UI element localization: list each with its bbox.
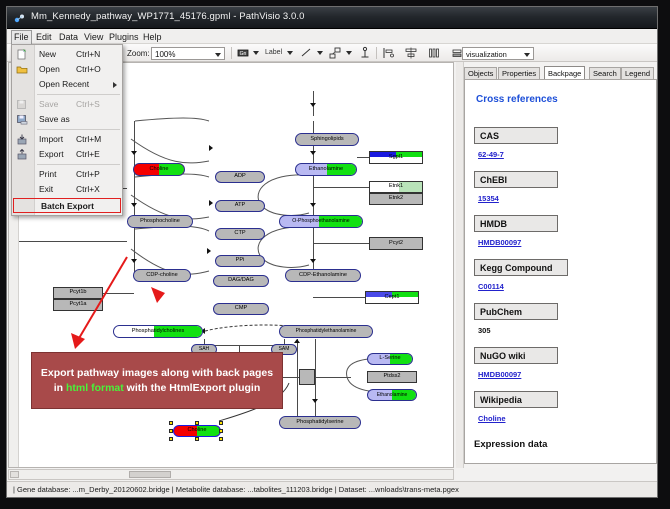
status-bar-text: | Gene database: ...m_Derby_20120602.bri… <box>13 485 459 494</box>
menu-item-accel: Ctrl+O <box>76 64 101 74</box>
arrow-icon <box>209 200 213 206</box>
chevron-down-icon[interactable] <box>524 53 530 57</box>
menu-bar: File Edit Data View Plugins Help <box>7 29 657 44</box>
screenshot-frame: Mm_Kennedy_pathway_WP1771_45176.gpml - P… <box>0 0 670 509</box>
node-etnk2[interactable]: Etnk2 <box>369 193 423 205</box>
menu-item-export[interactable]: Export Ctrl+E <box>12 147 122 162</box>
menu-item-label: Export <box>39 149 64 159</box>
selection-handle[interactable] <box>195 437 199 441</box>
menu-item-exit[interactable]: Exit Ctrl+X <box>12 182 122 197</box>
arrow-icon <box>312 399 318 403</box>
visualization-value: visualization <box>466 50 507 59</box>
menu-item-label: Import <box>39 134 63 144</box>
node-sphingolipids[interactable]: Sphingolipids <box>295 133 359 146</box>
selection-handle[interactable] <box>195 421 199 425</box>
node-adp[interactable]: ADP <box>215 171 265 183</box>
menu-item-new[interactable]: New Ctrl+N <box>12 47 122 62</box>
selection-handle[interactable] <box>219 437 223 441</box>
menu-item-label: Exit <box>39 184 53 194</box>
xref-value-cas[interactable]: 62-49-7 <box>478 150 504 159</box>
node-choline-selected[interactable]: Choline <box>173 425 221 437</box>
save-icon <box>16 99 28 110</box>
menu-item-save-as[interactable]: Save as <box>12 112 122 127</box>
selection-handle[interactable] <box>169 429 173 433</box>
chevron-right-icon <box>113 82 117 88</box>
callout-highlight: html format <box>66 382 124 394</box>
label-button[interactable]: Label <box>265 49 282 56</box>
chevron-down-icon[interactable] <box>215 53 221 57</box>
edge-pcyt2 <box>313 243 369 244</box>
node-cept1[interactable]: Cept1 <box>365 291 419 304</box>
arrow-icon <box>294 339 300 343</box>
zoom-label: Zoom: <box>127 49 150 58</box>
backpage-content: Cross references CAS 62-49-7 ChEBI 15354… <box>464 79 657 464</box>
node-l-serine[interactable]: L-Serine <box>367 353 413 365</box>
xref-value-pubchem: 305 <box>478 326 491 335</box>
edge-etnk <box>313 187 369 188</box>
edge-cept1 <box>313 297 365 298</box>
line-icon[interactable] <box>299 46 313 60</box>
xref-value-wikipedia[interactable]: Choline <box>478 414 506 423</box>
callout-arrow-icon <box>49 253 169 363</box>
xref-label-hmdb: HMDB <box>474 215 558 232</box>
menu-item-accel: Ctrl+N <box>76 49 100 59</box>
node-ptdss2[interactable]: Ptdss2 <box>367 371 417 383</box>
edge-ps-pe <box>297 339 298 419</box>
line-dropdown-icon[interactable] <box>317 51 323 55</box>
status-bar: | Gene database: ...m_Derby_20120602.bri… <box>7 481 657 497</box>
menu-item-label: Print <box>39 169 56 179</box>
svg-text:Gn: Gn <box>240 51 247 57</box>
xref-label-cas: CAS <box>474 127 558 144</box>
node-ethanolamine[interactable]: Ethanolamine <box>295 163 357 176</box>
align-center-icon[interactable] <box>404 46 418 60</box>
xref-label-kegg: Kegg Compound <box>474 259 568 276</box>
node-atp[interactable]: ATP <box>215 200 265 212</box>
edge-sgpl1 <box>357 157 369 158</box>
node-ctp[interactable]: CTP <box>215 228 265 240</box>
callout-arrow-tip-icon <box>147 285 171 307</box>
file-dropdown-menu[interactable]: New Ctrl+N Open Ctrl+O Open Recent Save … <box>11 44 123 216</box>
import-icon <box>16 134 28 145</box>
xref-value-hmdb[interactable]: HMDB00097 <box>478 238 521 247</box>
canvas-horizontal-scrollbar[interactable] <box>8 469 454 480</box>
menu-item-label: Save <box>39 99 58 109</box>
export-icon <box>16 149 28 160</box>
menu-help[interactable]: Help <box>140 31 165 43</box>
title-bar: Mm_Kennedy_pathway_WP1771_45176.gpml - P… <box>7 7 657 29</box>
node-phosphocholine[interactable]: Phosphocholine <box>127 215 193 228</box>
node-phosphatidylethanolamine[interactable]: Phosphatidylethanolamine <box>279 325 373 338</box>
node-pcyt2[interactable]: Pcyt2 <box>369 237 423 250</box>
node-o-phosphoethanolamine[interactable]: O-Phosphoethanolamine <box>279 215 363 228</box>
menu-item-label: Batch Export <box>41 201 94 211</box>
zoom-value: 100% <box>155 50 175 59</box>
menu-edit[interactable]: Edit <box>33 31 55 43</box>
menu-item-accel: Ctrl+M <box>76 134 101 144</box>
label-dropdown-icon[interactable] <box>287 51 293 55</box>
xref-value-nugo[interactable]: HMDB00097 <box>478 370 521 379</box>
node-phosphatidylserine[interactable]: Phosphatidylserine <box>279 416 361 429</box>
node-cdp-ethanolamine[interactable]: CDP-Ethanolamine <box>285 269 361 282</box>
window-title: Mm_Kennedy_pathway_WP1771_45176.gpml - P… <box>31 11 305 22</box>
menu-item-print[interactable]: Print Ctrl+P <box>12 167 122 182</box>
menu-item-batch-export[interactable]: Batch Export <box>13 198 121 213</box>
xref-label-nugo: NuGO wiki <box>474 347 558 364</box>
menu-item-accel: Ctrl+X <box>76 184 100 194</box>
pathvisio-icon <box>14 13 25 24</box>
menu-file[interactable]: File <box>11 30 32 45</box>
scrollbar-thumb[interactable] <box>129 471 171 478</box>
gene-dropdown-icon[interactable] <box>253 51 259 55</box>
menu-item-label: Open <box>39 64 60 74</box>
panel-splitter[interactable] <box>456 62 464 468</box>
menu-item-open-recent[interactable]: Open Recent <box>12 77 122 92</box>
menu-item-accel: Ctrl+P <box>76 169 100 179</box>
cross-references-title: Cross references <box>476 94 558 105</box>
new-file-icon <box>16 49 28 60</box>
application-window: Mm_Kennedy_pathway_WP1771_45176.gpml - P… <box>6 6 658 498</box>
node-ethanolamine-2[interactable]: Ethanolamine <box>367 389 417 401</box>
node-sgpl1[interactable]: Sgpl1 <box>369 151 423 164</box>
menu-item-label: Open Recent <box>39 79 89 89</box>
arrow-icon <box>207 248 211 254</box>
menu-item-import[interactable]: Import Ctrl+M <box>12 132 122 147</box>
panel-tab-strip: Objects Properties Backpage Search Legen… <box>464 66 657 80</box>
anchor-icon[interactable] <box>358 46 372 60</box>
visualization-combo[interactable]: visualization <box>462 47 534 60</box>
menu-item-save: Save Ctrl+S <box>12 97 122 112</box>
arrow-icon <box>209 145 213 151</box>
node-dag[interactable]: DAG/DAG <box>213 275 269 287</box>
scroll-left-button[interactable] <box>10 471 19 478</box>
node-choline[interactable]: Choline <box>133 163 185 176</box>
menu-view[interactable]: View <box>81 31 106 43</box>
menu-data[interactable]: Data <box>56 31 81 43</box>
xref-value-kegg[interactable]: C00114 <box>478 282 504 291</box>
node-ppi[interactable]: PPi <box>215 255 265 267</box>
selection-handle[interactable] <box>169 437 173 441</box>
xref-label-chebi: ChEBI <box>474 171 558 188</box>
tab-backpage[interactable]: Backpage <box>544 66 585 80</box>
menu-item-label: Save as <box>39 114 70 124</box>
node-cmp[interactable]: CMP <box>213 303 269 315</box>
shape-icon[interactable] <box>328 46 342 60</box>
selection-handle[interactable] <box>169 421 173 425</box>
align-left-icon[interactable] <box>381 46 395 60</box>
menu-item-open[interactable]: Open Ctrl+O <box>12 62 122 77</box>
expression-data-title: Expression data <box>474 439 547 450</box>
shape-dropdown-icon[interactable] <box>346 51 352 55</box>
callout-text-after: with the HtmlExport plugin <box>124 382 261 394</box>
selection-handle[interactable] <box>219 429 223 433</box>
align-distribute-icon[interactable] <box>427 46 441 60</box>
arrow-icon <box>310 103 316 107</box>
edge-chk-left2 <box>19 241 127 242</box>
zoom-combo[interactable]: 100% <box>151 47 225 60</box>
xref-label-pubchem: PubChem <box>474 303 558 320</box>
selection-handle[interactable] <box>219 421 223 425</box>
node-etnk1[interactable]: Etnk1 <box>369 181 423 193</box>
gene-product-icon[interactable]: Gn <box>236 46 250 60</box>
folder-open-icon <box>16 64 28 75</box>
edge-pe-ps <box>315 339 316 417</box>
menu-item-label: New <box>39 49 56 59</box>
node-unnamed-connector[interactable] <box>299 369 315 385</box>
menu-item-accel: Ctrl+E <box>76 149 100 159</box>
menu-plugins[interactable]: Plugins <box>106 31 142 43</box>
menu-item-accel: Ctrl+S <box>76 99 100 109</box>
right-side-panel: Objects Properties Backpage Search Legen… <box>456 62 658 468</box>
arrow-icon <box>310 151 316 155</box>
save-as-icon <box>16 114 28 125</box>
callout-annotation: Export pathway images along with back pa… <box>31 352 283 409</box>
xref-label-wikipedia: Wikipedia <box>474 391 558 408</box>
xref-value-chebi[interactable]: 15354 <box>478 194 499 203</box>
